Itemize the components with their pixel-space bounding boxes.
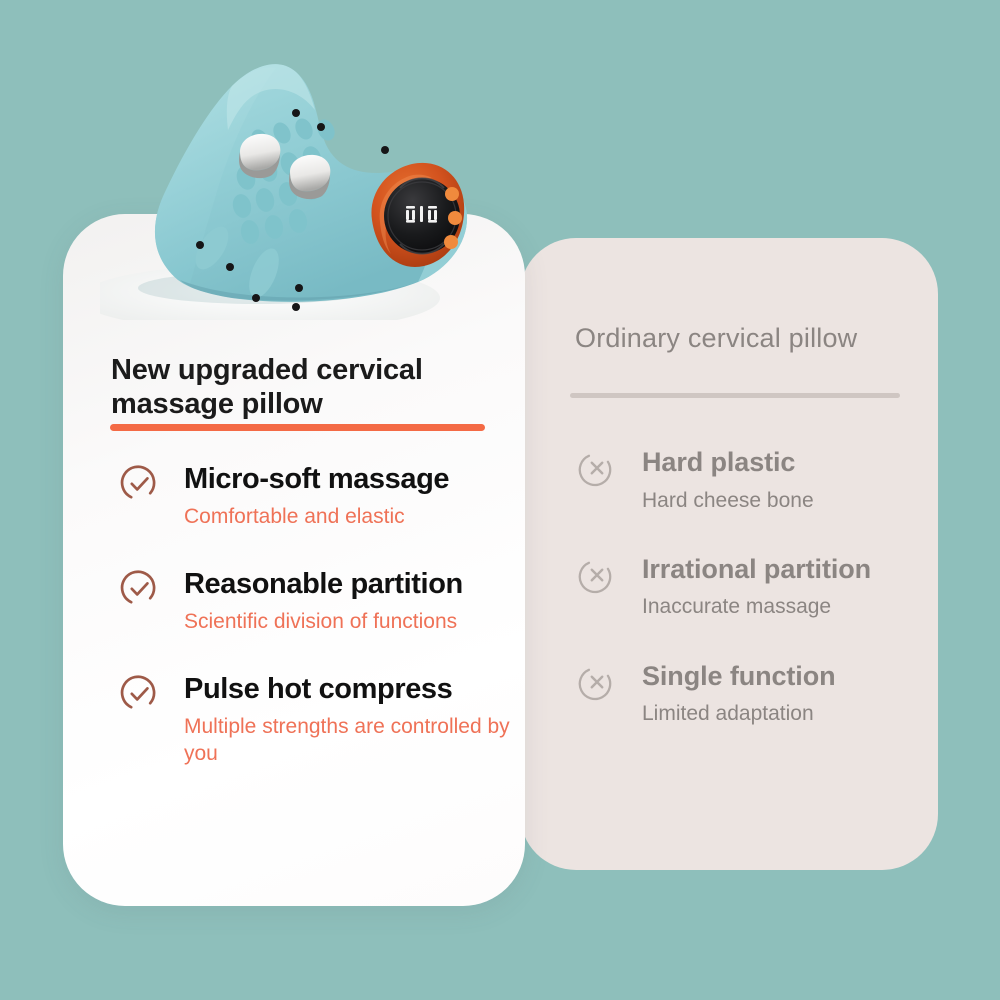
list-item-title: Single function [642,662,940,691]
cross-circle-icon [578,663,616,701]
list-item-title: Hard plastic [642,448,940,477]
check-circle-icon [119,569,159,609]
list-item-subtitle: Scientific division of functions [184,609,511,636]
magnetic-node-left [239,134,280,178]
magnetic-node-right [289,155,330,199]
check-circle-icon [119,674,159,714]
cross-circle-icon [578,556,616,594]
ordinary-feature-list: Hard plastic Hard cheese bone Irrational… [560,448,940,728]
list-item-subtitle: Comfortable and elastic [184,504,511,531]
upgraded-feature-list: Micro-soft massage Comfortable and elast… [111,464,511,768]
check-circle-icon [119,464,159,504]
upgraded-pillow-card: New upgraded cervical massage pillow Mic… [63,214,525,906]
list-item: Single function Limited adaptation [560,662,940,728]
upgraded-pillow-title: New upgraded cervical massage pillow [111,354,491,421]
cross-circle-icon [578,449,616,487]
list-item-title: Pulse hot compress [184,674,511,704]
list-item: Irrational partition Inaccurate massage [560,555,940,621]
list-item-subtitle: Hard cheese bone [642,488,940,514]
upgraded-title-underline [110,424,485,431]
list-item-title: Micro-soft massage [184,464,511,494]
ordinary-pillow-title: Ordinary cervical pillow [575,323,915,354]
list-item-subtitle: Limited adaptation [642,701,940,727]
list-item: Micro-soft massage Comfortable and elast… [111,464,511,531]
list-item-subtitle: Inaccurate massage [642,594,940,620]
list-item-title: Reasonable partition [184,569,511,599]
list-item-subtitle: Multiple strengths are controlled by you [184,714,511,768]
list-item: Pulse hot compress Multiple strengths ar… [111,674,511,768]
list-item: Hard plastic Hard cheese bone [560,448,940,514]
ordinary-pillow-card: Ordinary cervical pillow Hard plastic Ha… [520,238,938,870]
list-item: Reasonable partition Scientific division… [111,569,511,636]
list-item-title: Irrational partition [642,555,940,584]
panel-button-top [445,187,459,201]
ordinary-title-divider [570,393,900,398]
comparison-infographic: Ordinary cervical pillow Hard plastic Ha… [0,0,1000,1000]
